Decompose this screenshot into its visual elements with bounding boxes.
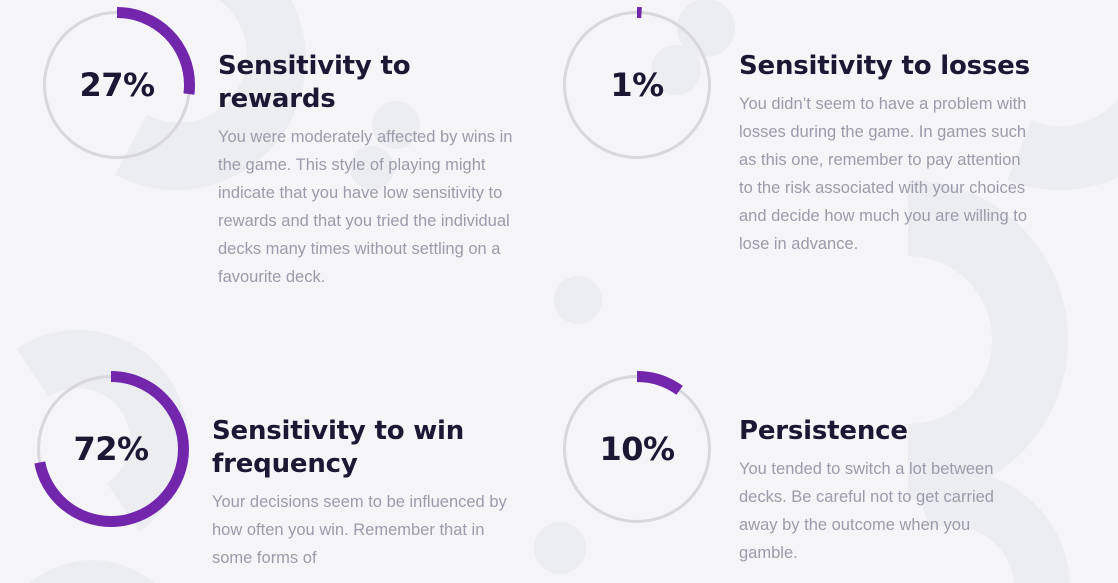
- donut-gauge-sensitivity-to-win-frequency: 72%: [32, 370, 190, 528]
- gauge-percent-label: 27%: [38, 6, 196, 164]
- metric-card-sensitivity-to-rewards: 27% Sensitivity to rewards You were mode…: [0, 0, 521, 361]
- metric-card-sensitivity-to-win-frequency: 72% Sensitivity to win frequency Your de…: [0, 361, 521, 583]
- metric-text-block: Persistence You tended to switch a lot b…: [716, 370, 1031, 567]
- results-grid: 27% Sensitivity to rewards You were mode…: [0, 0, 1118, 583]
- metric-title: Sensitivity to rewards: [218, 50, 518, 116]
- metric-title: Sensitivity to losses: [739, 50, 1031, 83]
- donut-gauge-sensitivity-to-rewards: 27%: [38, 6, 196, 164]
- donut-gauge-sensitivity-to-losses: 1%: [558, 6, 716, 164]
- metric-text-block: Sensitivity to losses You didn’t seem to…: [716, 6, 1031, 258]
- gauge-percent-label: 10%: [558, 370, 716, 528]
- metric-description: You didn’t seem to have a problem with l…: [739, 90, 1031, 258]
- donut-gauge-persistence: 10%: [558, 370, 716, 528]
- metric-text-block: Sensitivity to rewards You were moderate…: [196, 6, 518, 291]
- metric-description: You tended to switch a lot between decks…: [739, 455, 1031, 567]
- gauge-percent-label: 72%: [32, 370, 190, 528]
- metric-title: Sensitivity to win frequency: [212, 415, 512, 481]
- metric-card-sensitivity-to-losses: 1% Sensitivity to losses You didn’t seem…: [521, 0, 1118, 361]
- metric-description: You were moderately affected by wins in …: [218, 123, 518, 291]
- metric-description: Your decisions seem to be influenced by …: [212, 488, 512, 572]
- gauge-percent-label: 1%: [558, 6, 716, 164]
- metric-text-block: Sensitivity to win frequency Your decisi…: [190, 370, 512, 572]
- metric-title: Persistence: [739, 415, 1031, 448]
- metric-card-persistence: 10% Persistence You tended to switch a l…: [521, 361, 1118, 583]
